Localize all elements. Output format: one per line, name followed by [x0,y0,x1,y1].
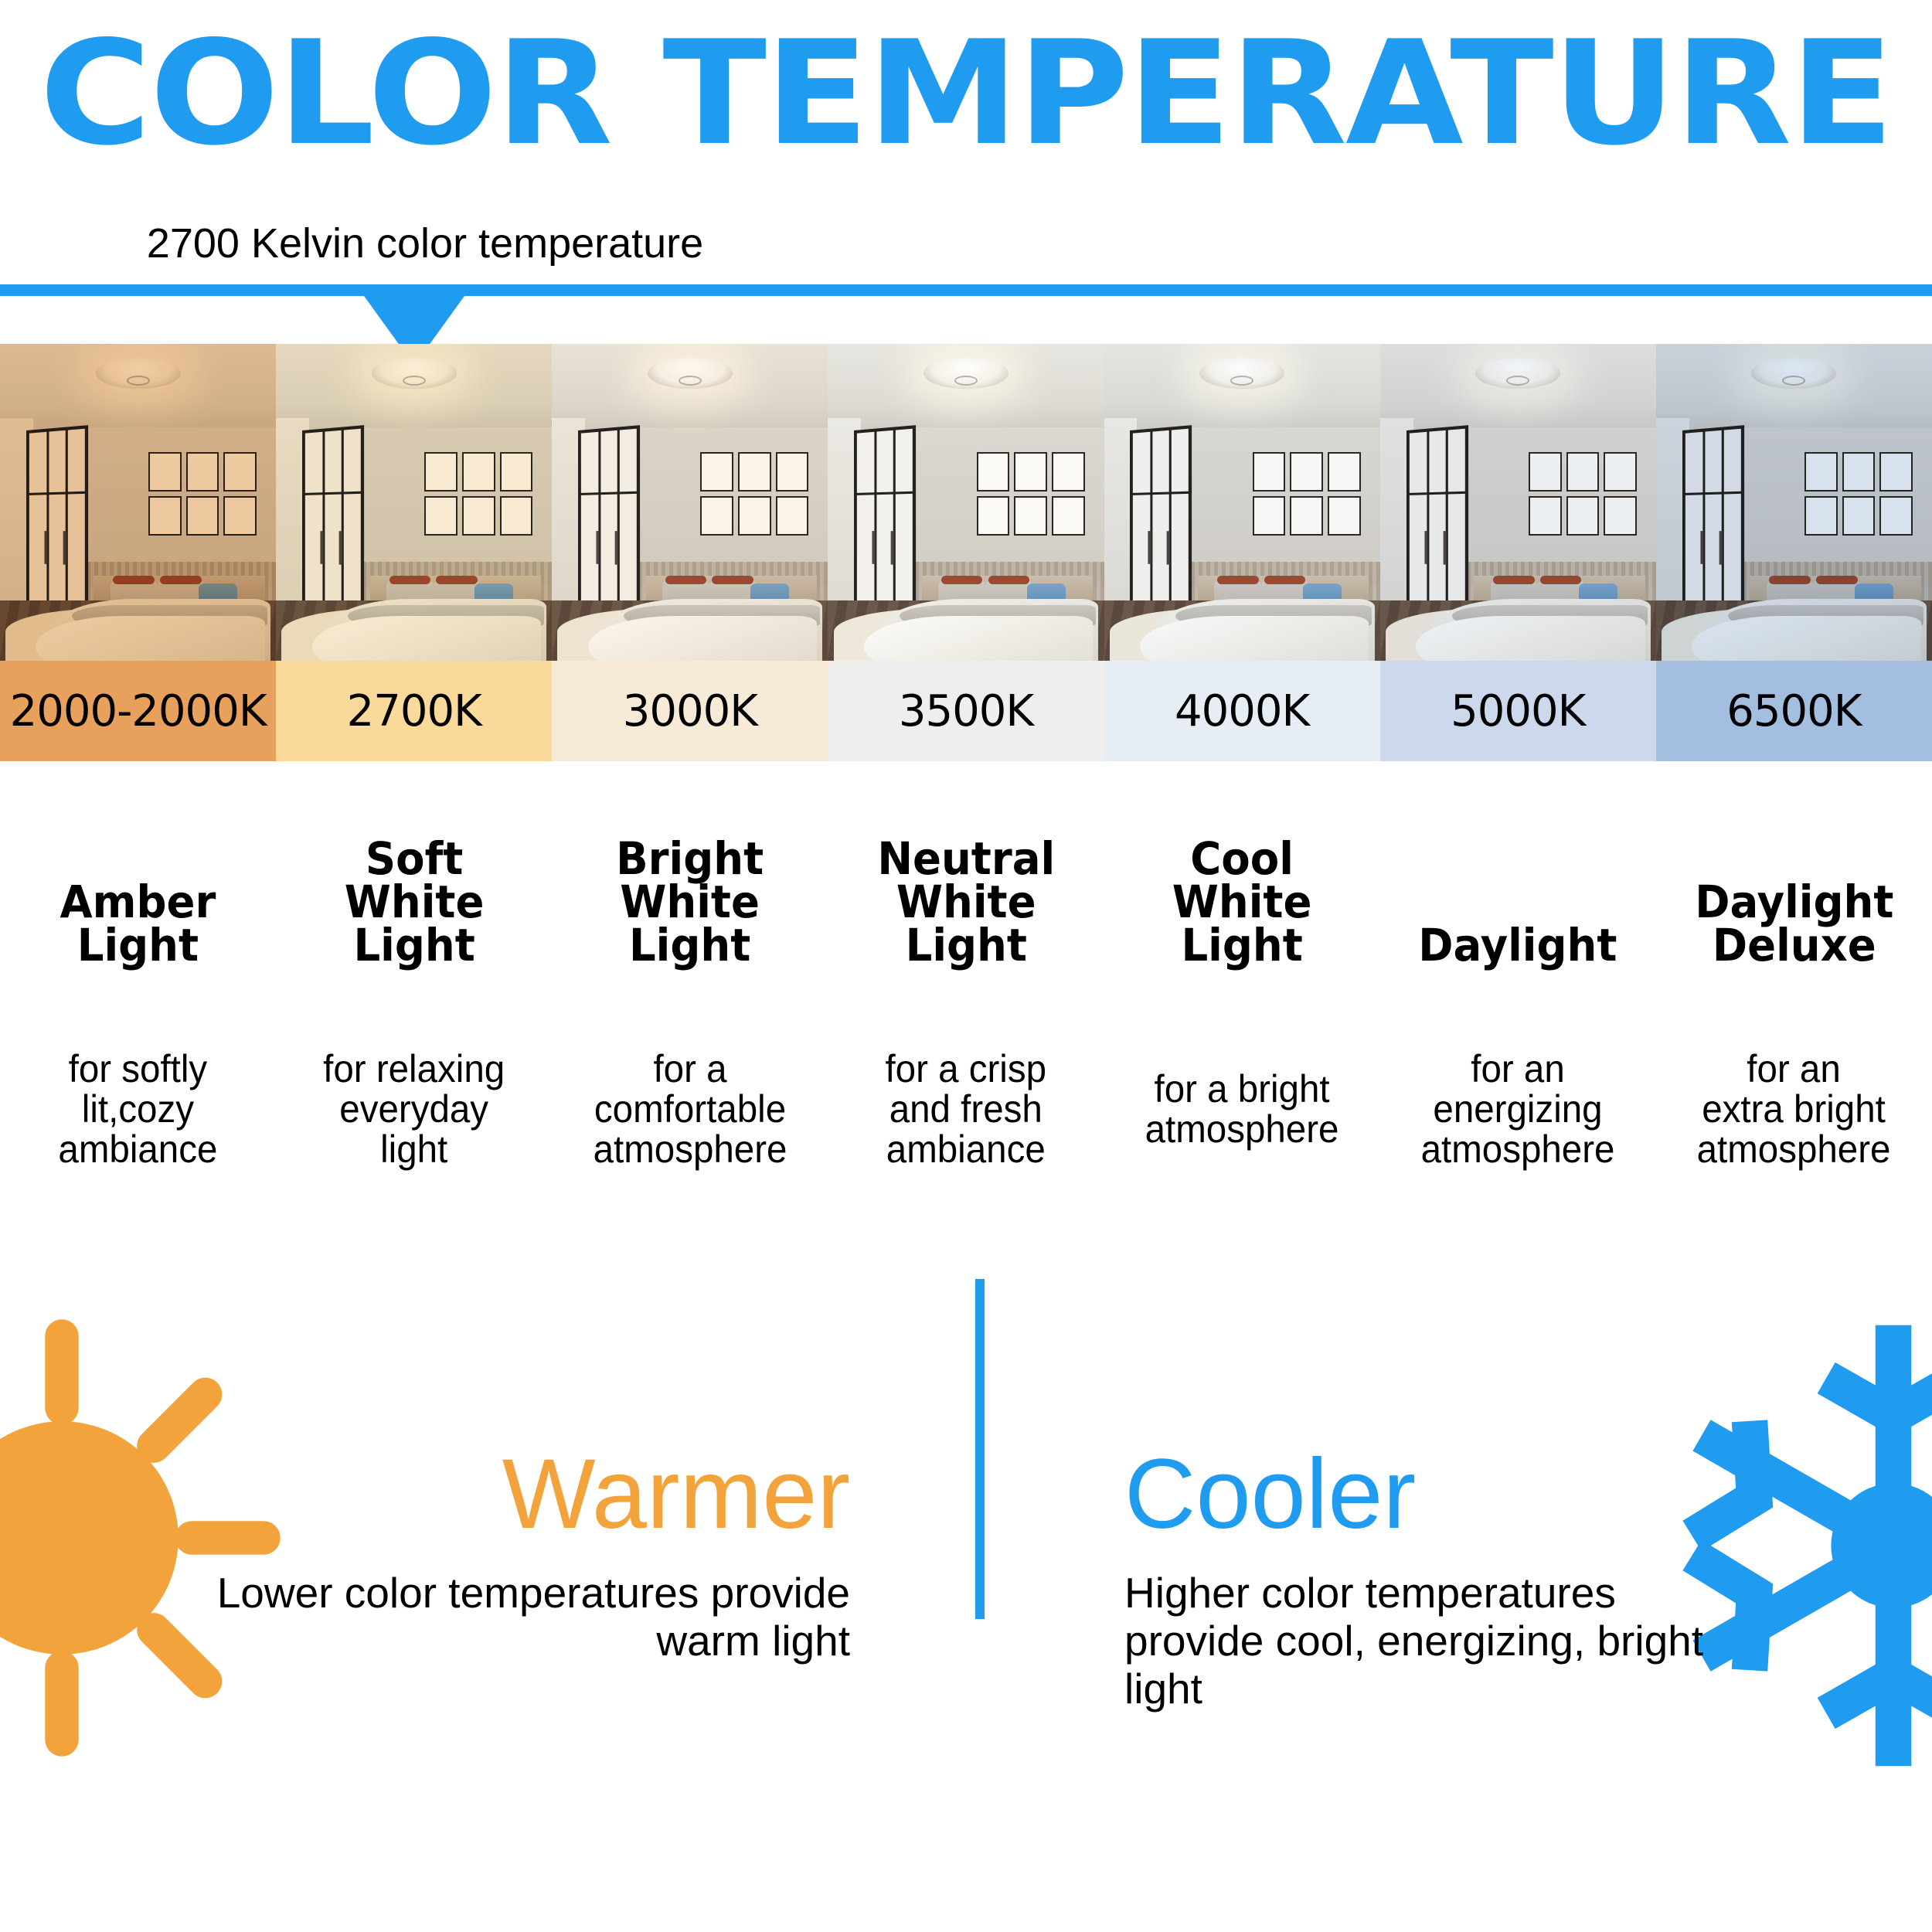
room-pillow-accent [1816,576,1858,584]
light-description-wrap: for a crispand freshambiance [828,1028,1104,1190]
light-description-text: for relaxingeverydaylight [323,1049,505,1169]
room-gallery-wall [977,452,1085,536]
light-name-cell: AmberLight [0,808,276,970]
light-name-cell: CoolWhiteLight [1104,808,1380,970]
light-name-wrap: BrightWhiteLight [552,808,828,970]
room-pillow-accent [436,576,478,584]
room-ceiling [0,344,276,435]
light-description-wrap: for relaxingeverydaylight [276,1028,552,1190]
light-name-cell: SoftWhiteLight [276,808,552,970]
light-description-wrap: for a brightatmosphere [1104,1028,1380,1190]
room-pillow-accent [1769,576,1811,584]
room-duvet [588,616,817,661]
light-description-cell: for acomfortableatmosphere [552,1028,828,1190]
kelvin-label: 2000-2000K [0,661,276,761]
light-name-text: AmberLight [60,880,216,967]
kelvin-label: 3000K [552,661,828,761]
room-wardrobe [1406,425,1468,629]
room-gallery-wall [148,452,257,536]
room-photo [1380,344,1656,661]
snowflake-icon [1654,1306,1932,1785]
light-description-text: for anextra brightatmosphere [1697,1049,1891,1169]
room-preview-3000k [552,344,828,661]
light-name-wrap: DaylightDeluxe [1656,808,1932,970]
room-gallery-wall [1529,452,1637,536]
light-name-row: AmberLightSoftWhiteLightBrightWhiteLight… [0,808,1932,970]
kelvin-label: 2700K [276,661,552,761]
room-duvet [312,616,541,661]
ceiling-lamp-icon [923,358,1009,389]
room-wardrobe [302,425,364,629]
light-name-wrap: NeutralWhiteLight [828,808,1104,970]
room-photo [0,344,276,661]
kelvin-swatch-cell[interactable]: 5000K [1380,661,1656,761]
room-pillow-accent [1264,576,1306,584]
kelvin-label: 6500K [1656,661,1932,761]
accent-rule [0,284,1932,296]
light-description-cell: for softlylit,cozyambiance [0,1028,276,1190]
room-preview-2700k [276,344,552,661]
room-gallery-wall [700,452,808,536]
light-name-text: SoftWhiteLight [344,837,484,967]
light-description-text: for a brightatmosphere [1145,1069,1339,1149]
kelvin-swatch-cell[interactable]: 2000-2000K [0,661,276,761]
room-preview-6500k [1656,344,1932,661]
room-duvet [1692,616,1920,661]
light-name-cell: BrightWhiteLight [552,808,828,970]
room-gallery-wall [1253,452,1361,536]
room-ceiling [1104,344,1380,435]
light-description-text: for a crispand freshambiance [886,1049,1047,1169]
light-description-cell: for a crispand freshambiance [828,1028,1104,1190]
light-name-text: Daylight [1419,923,1617,967]
room-photo [276,344,552,661]
room-pillow-accent [160,576,202,584]
light-description-wrap: for anenergizingatmosphere [1380,1028,1656,1190]
room-ceiling [1380,344,1656,435]
light-description-wrap: for anextra brightatmosphere [1656,1028,1932,1190]
ceiling-lamp-icon [1199,358,1284,389]
room-pillow-accent [941,576,983,584]
room-duvet [36,616,264,661]
light-name-text: DaylightDeluxe [1695,880,1893,967]
kelvin-swatch-cell[interactable]: 3500K [828,661,1104,761]
section-divider [975,1279,985,1619]
room-photo [1656,344,1932,661]
cooler-body-text: Higher color temperatures provide cool, … [1124,1569,1712,1713]
room-photo [828,344,1104,661]
kelvin-swatch-row: 2000-2000K2700K3000K3500K4000K5000K6500K [0,661,1932,761]
ceiling-lamp-icon [648,358,733,389]
room-ceiling [276,344,552,435]
light-name-text: NeutralWhiteLight [877,837,1055,967]
light-name-wrap: CoolWhiteLight [1104,808,1380,970]
room-photo [1104,344,1380,661]
kelvin-swatch-cell[interactable]: 6500K [1656,661,1932,761]
room-pillow-accent [712,576,753,584]
room-wardrobe [854,425,916,629]
room-wardrobe [1682,425,1744,629]
light-description-cell: for relaxingeverydaylight [276,1028,552,1190]
light-description-text: for anenergizingatmosphere [1421,1049,1615,1169]
room-ceiling [552,344,828,435]
cooler-heading: Cooler [1124,1445,1820,1544]
room-ceiling [828,344,1104,435]
light-description-text: for softlylit,cozyambiance [59,1049,218,1169]
room-pillow-accent [113,576,155,584]
room-photo [552,344,828,661]
room-duvet [1140,616,1369,661]
kelvin-label: 3500K [828,661,1104,761]
light-name-wrap: SoftWhiteLight [276,808,552,970]
room-gallery-wall [424,452,532,536]
room-wardrobe [26,425,88,629]
light-description-cell: for anenergizingatmosphere [1380,1028,1656,1190]
light-description-cell: for a brightatmosphere [1104,1028,1380,1190]
light-name-text: CoolWhiteLight [1172,837,1312,967]
room-pillow-accent [665,576,707,584]
light-description-wrap: for softlylit,cozyambiance [0,1028,276,1190]
kelvin-swatch-cell[interactable]: 3000K [552,661,828,761]
room-preview-3500k [828,344,1104,661]
light-name-cell: Daylight [1380,808,1656,970]
light-name-cell: NeutralWhiteLight [828,808,1104,970]
warmer-heading: Warmer [155,1445,850,1544]
room-preview-4000k [1104,344,1380,661]
room-pillow-accent [1493,576,1535,584]
room-pillow-accent [1540,576,1582,584]
light-description-wrap: for acomfortableatmosphere [552,1028,828,1190]
room-wardrobe [578,425,640,629]
room-pillow-accent [389,576,431,584]
kelvin-label: 5000K [1380,661,1656,761]
room-pillow-accent [988,576,1030,584]
room-duvet [864,616,1093,661]
kelvin-label: 4000K [1104,661,1380,761]
room-ceiling [1656,344,1932,435]
room-pillow-accent [1217,576,1259,584]
room-preview-row [0,344,1932,661]
light-name-wrap: Daylight [1380,808,1656,970]
light-name-text: BrightWhiteLight [616,837,764,967]
warmer-body-text: Lower color temperatures provide warm li… [116,1569,850,1665]
room-gallery-wall [1804,452,1913,536]
ceiling-lamp-icon [1475,358,1560,389]
light-description-row: for softlylit,cozyambiancefor relaxingev… [0,1028,1932,1190]
ceiling-lamp-icon [372,358,457,389]
room-preview-2000-2000k [0,344,276,661]
kelvin-swatch-cell[interactable]: 2700K [276,661,552,761]
subtitle-callout: 2700 Kelvin color temperature [0,220,850,267]
light-name-wrap: AmberLight [0,808,276,970]
light-description-cell: for anextra brightatmosphere [1656,1028,1932,1190]
page-title: COLOR TEMPERATURE [0,22,1932,165]
kelvin-swatch-cell[interactable]: 4000K [1104,661,1380,761]
room-preview-5000k [1380,344,1656,661]
ceiling-lamp-icon [96,358,181,389]
light-description-text: for acomfortableatmosphere [593,1049,787,1169]
room-duvet [1416,616,1645,661]
room-wardrobe [1130,425,1192,629]
light-name-cell: DaylightDeluxe [1656,808,1932,970]
ceiling-lamp-icon [1751,358,1836,389]
